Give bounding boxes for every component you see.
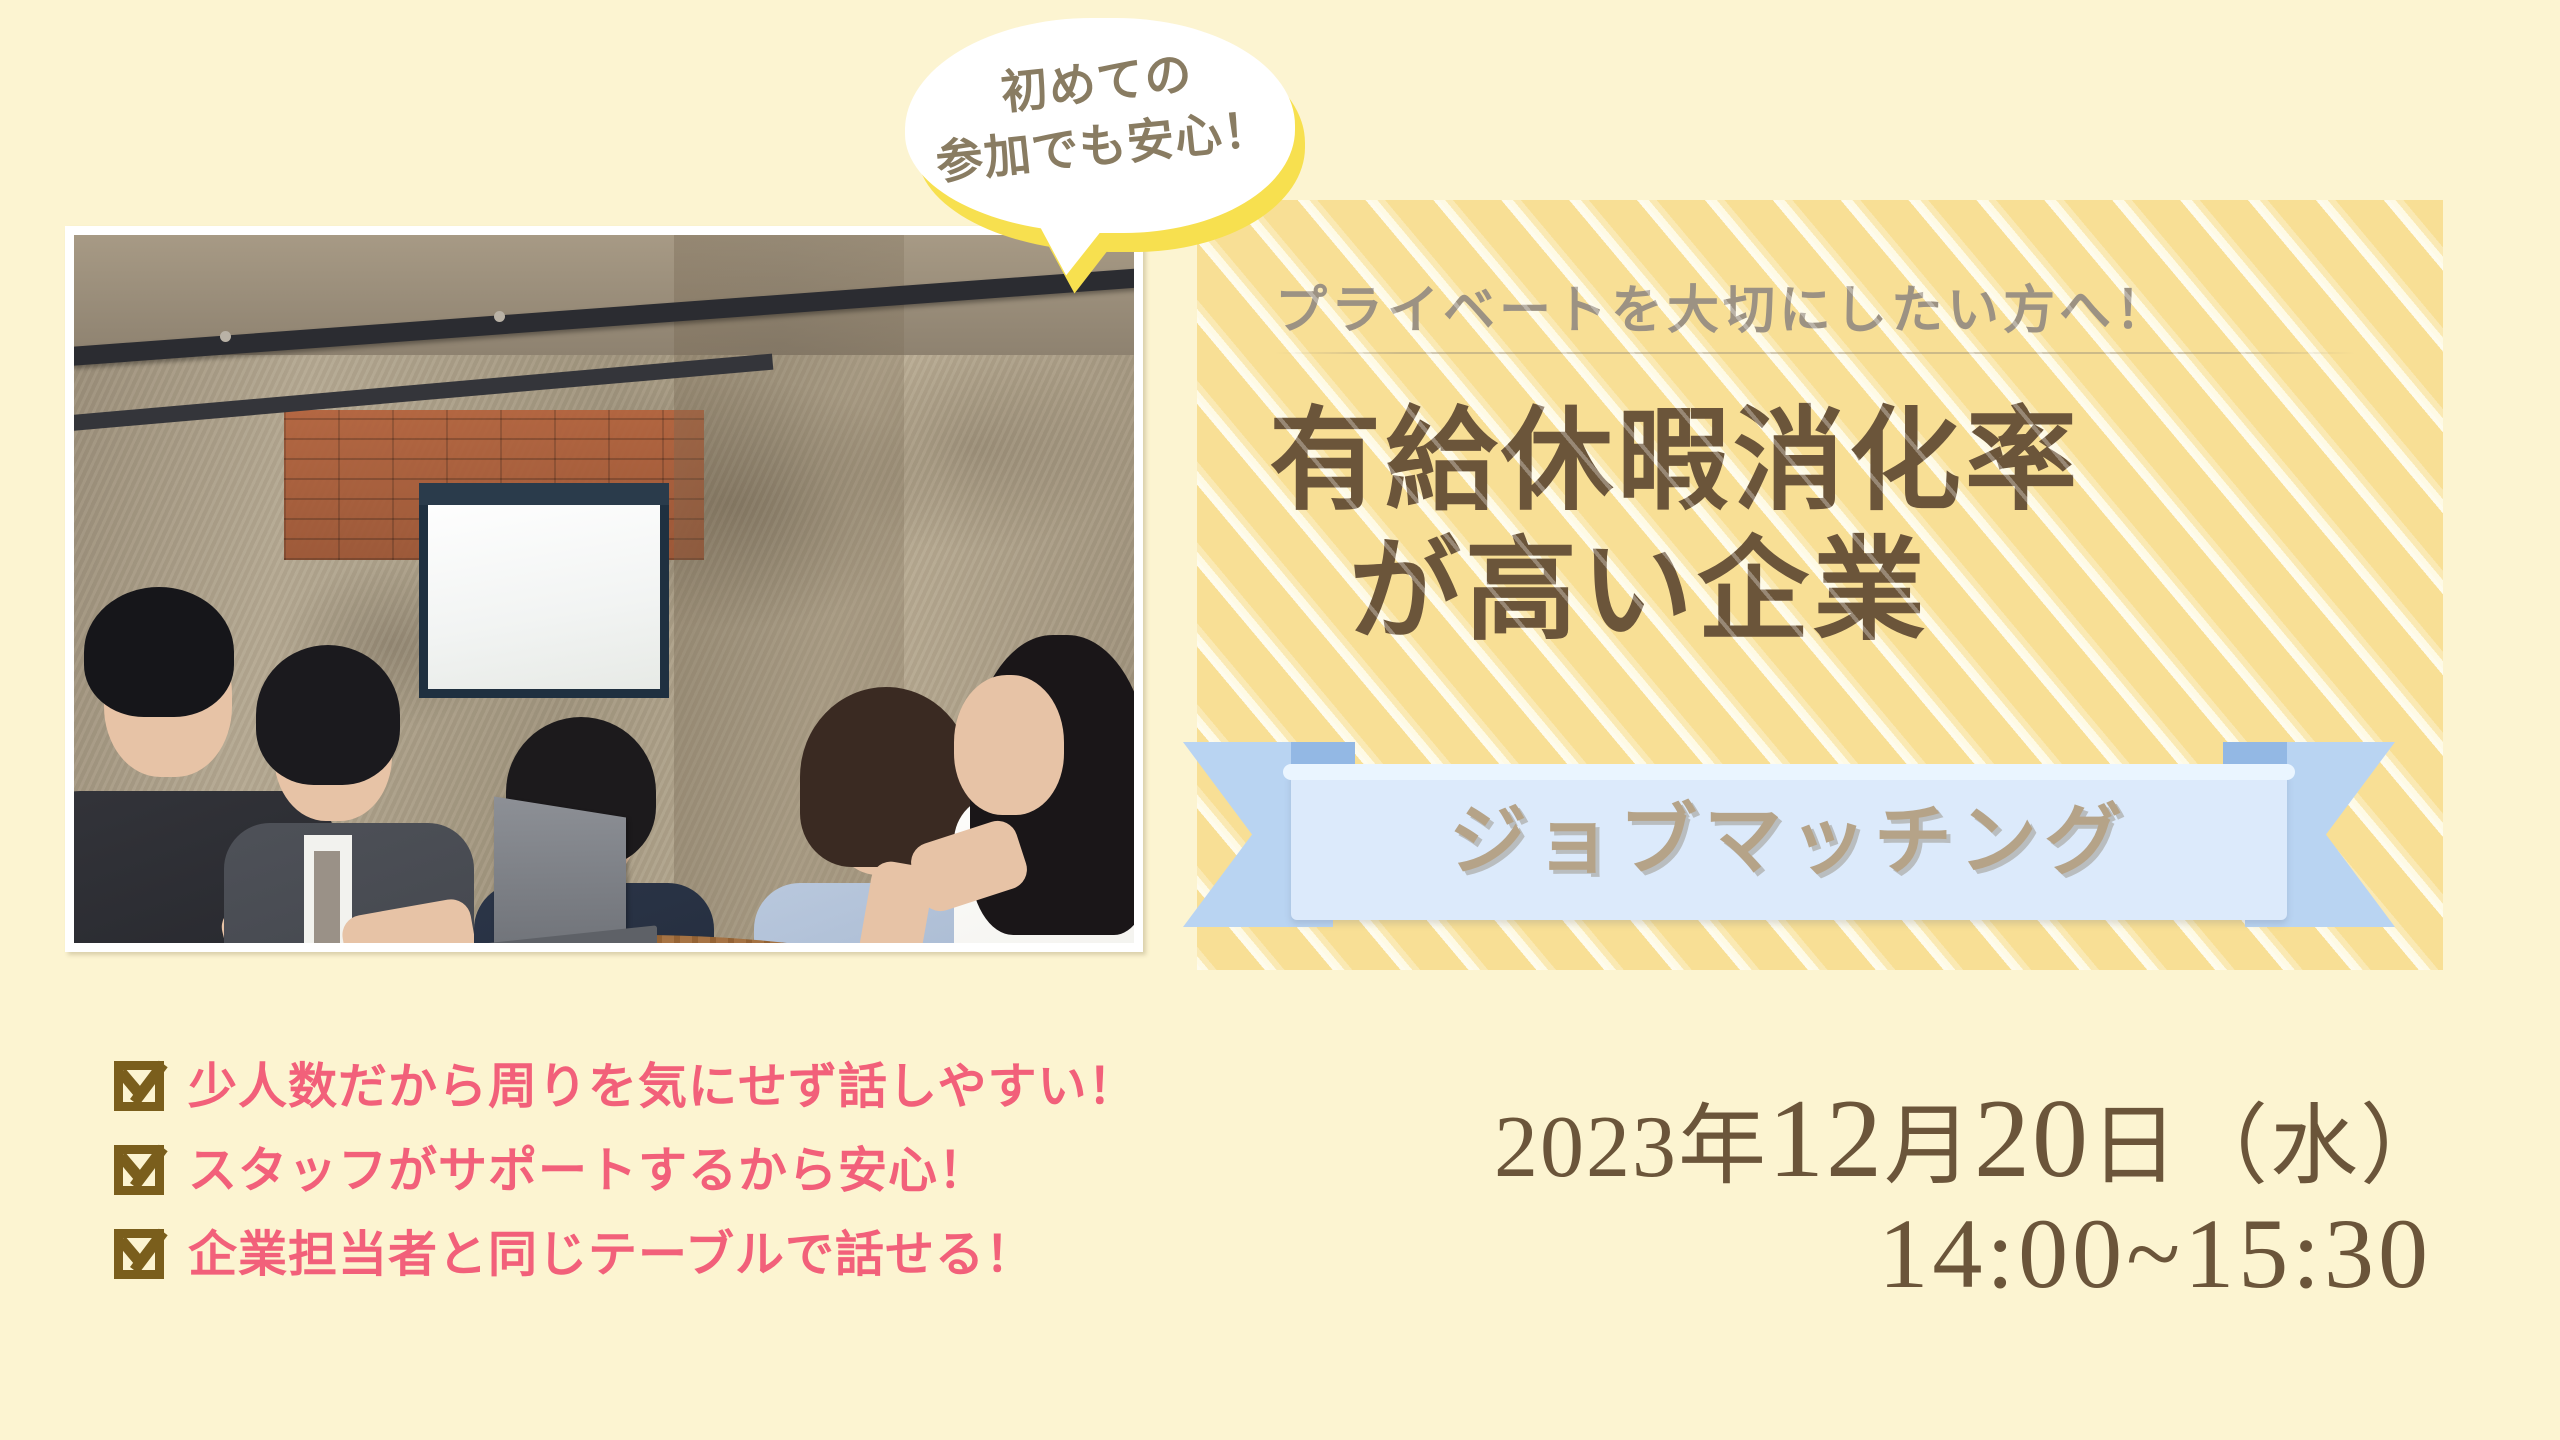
photo-window-header <box>419 483 669 505</box>
poster-canvas: プライベートを大切にしたい方へ！ 有給休暇消化率 が高い企業 ジョブマッチング … <box>0 0 2560 1440</box>
panel-divider <box>1275 352 2355 354</box>
panel-headline-line2: が高い企業 <box>1197 526 2443 656</box>
list-item: 企業担当者と同じテーブルで話せる！ <box>110 1214 1310 1286</box>
date-day-unit: 日 <box>2090 1099 2180 1196</box>
panel-headline-line1: 有給休暇消化率 <box>1197 396 2443 526</box>
panel-eyebrow: プライベートを大切にしたい方へ！ <box>1275 268 2365 343</box>
checked-box-icon <box>110 1051 172 1113</box>
event-photo <box>74 235 1134 943</box>
date-day: 20 <box>1974 1077 2090 1201</box>
ribbon-label: ジョブマッチング <box>1183 778 2395 890</box>
event-time: 14:00~15:30 <box>1330 1199 2450 1309</box>
list-item: 少人数だから周りを気にせず話しやすい！ <box>110 1046 1310 1118</box>
photo-person-tie <box>314 851 340 943</box>
date-year-unit: 年 <box>1678 1099 1768 1196</box>
panel-headline: 有給休暇消化率 が高い企業 <box>1197 396 2443 656</box>
date-year: 2023 <box>1494 1099 1678 1196</box>
date-month-unit: 月 <box>1884 1099 1974 1196</box>
checked-box-icon <box>110 1219 172 1281</box>
photo-laptop-screen <box>494 797 626 943</box>
photo-pipe-bolt <box>494 311 505 322</box>
date-weekday: （水） <box>2180 1099 2450 1196</box>
event-date: 2023年12月20日（水） <box>1330 1080 2450 1199</box>
photo-person-hair <box>84 587 234 717</box>
checklist-label: 企業担当者と同じテーブルで話せる！ <box>188 1215 1035 1286</box>
photo-pipe-bolt <box>220 331 231 342</box>
checked-box-icon <box>110 1135 172 1197</box>
photo-person-head <box>954 675 1064 815</box>
checklist-label: 少人数だから周りを気にせず話しやすい！ <box>188 1047 1138 1118</box>
event-datetime: 2023年12月20日（水） 14:00~15:30 <box>1330 1080 2450 1309</box>
event-photo-frame <box>65 226 1143 952</box>
list-item: スタッフがサポートするから安心！ <box>110 1130 1310 1202</box>
reassurance-badge: 初めての 参加でも安心！ <box>905 18 1325 318</box>
ribbon-banner: ジョブマッチング <box>1183 742 2395 927</box>
photo-person-hair <box>256 645 400 785</box>
checklist-label: スタッフがサポートするから安心！ <box>188 1131 988 1202</box>
date-month: 12 <box>1768 1077 1884 1201</box>
photo-window <box>419 483 669 698</box>
benefits-checklist: 少人数だから周りを気にせず話しやすい！ スタッフがサポートするから安心！ 企業担… <box>110 1046 1310 1298</box>
